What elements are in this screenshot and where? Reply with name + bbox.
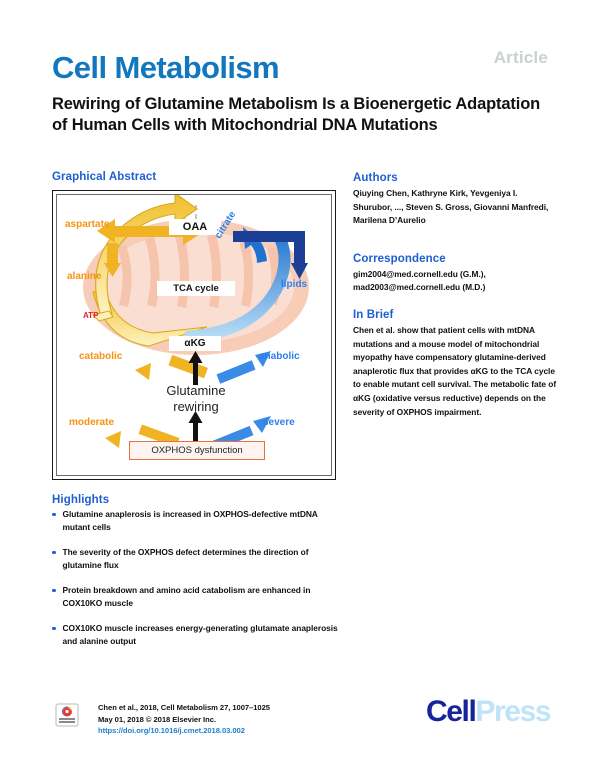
crossmark-icon (55, 703, 79, 727)
glutamine-rewiring-line-1: Glutamine (145, 383, 247, 399)
highlights-heading: Highlights (52, 494, 109, 506)
label-alanine: alanine (67, 271, 101, 282)
paper-cover-page: Article Cell Metabolism Rewiring of Glut… (0, 0, 600, 779)
label-anabolic: anabolic (259, 351, 300, 362)
footer-citation-block: Chen et al., 2018, Cell Metabolism 27, 1… (98, 702, 270, 737)
label-catabolic: catabolic (79, 351, 122, 362)
correspondence-email-1[interactable]: gim2004@med.cornell.edu (G.M.), (353, 268, 558, 281)
label-tca-cycle: TCA cycle (157, 281, 235, 296)
list-item: Glutamine anaplerosis is increased in OX… (52, 508, 344, 534)
authors-list: Qiuying Chen, Kathryne Kirk, Yevgeniya I… (353, 187, 558, 228)
footer-date-copyright: May 01, 2018 © 2018 Elsevier Inc. (98, 714, 270, 726)
bullet-icon (52, 551, 56, 555)
bullet-icon (52, 513, 56, 517)
glutamine-rewiring-line-2: rewiring (145, 399, 247, 415)
highlight-text: Glutamine anaplerosis is increased in OX… (63, 508, 345, 534)
highlight-text: COX10KO muscle increases energy-generati… (63, 622, 345, 648)
cell-press-logo-press: Press (475, 695, 550, 728)
list-item: COX10KO muscle increases energy-generati… (52, 622, 344, 648)
in-brief-text: Chen et al. show that patient cells with… (353, 324, 558, 419)
list-item: The severity of the OXPHOS defect determ… (52, 546, 344, 572)
footer-citation: Chen et al., 2018, Cell Metabolism 27, 1… (98, 702, 270, 714)
list-item: Protein breakdown and amino acid catabol… (52, 584, 344, 610)
article-type-label: Article (494, 48, 548, 68)
label-atp: ATP (83, 311, 98, 320)
correspondence-email-2[interactable]: mad2003@med.cornell.edu (M.D.) (353, 281, 558, 294)
highlight-text: Protein breakdown and amino acid catabol… (63, 584, 345, 610)
bullet-icon (52, 627, 56, 631)
cell-press-logo: CellPress (426, 697, 550, 727)
label-oxphos-dysfunction: OXPHOS dysfunction (129, 441, 265, 460)
page-title: Rewiring of Glutamine Metabolism Is a Bi… (52, 94, 552, 137)
correspondence-block: gim2004@med.cornell.edu (G.M.), mad2003@… (353, 268, 558, 294)
graphical-abstract-heading: Graphical Abstract (52, 171, 156, 183)
label-lipids: lipids (281, 279, 307, 290)
label-aspartate: aspartate (65, 219, 109, 230)
bullet-icon (52, 589, 56, 593)
glutamine-rewiring-up-arrow-bottom (189, 411, 203, 443)
authors-heading: Authors (353, 172, 563, 184)
highlights-list: Glutamine anaplerosis is increased in OX… (52, 508, 344, 660)
footer-doi-link[interactable]: https://doi.org/10.1016/j.cmet.2018.03.0… (98, 725, 270, 737)
label-severe: severe (263, 417, 295, 428)
label-glutamine-rewiring: Glutamine rewiring (145, 383, 247, 416)
in-brief-heading: In Brief (353, 309, 563, 321)
journal-title: Cell Metabolism (52, 52, 279, 83)
cell-press-logo-cell: Cell (426, 695, 475, 728)
correspondence-heading: Correspondence (353, 253, 563, 265)
graphical-abstract-canvas: aspartate alanine ATP OAA citrate lipids… (56, 194, 332, 476)
label-akg: αKG (169, 336, 221, 351)
graphical-abstract-figure: aspartate alanine ATP OAA citrate lipids… (52, 190, 336, 480)
highlight-text: The severity of the OXPHOS defect determ… (63, 546, 345, 572)
label-moderate: moderate (69, 417, 114, 428)
